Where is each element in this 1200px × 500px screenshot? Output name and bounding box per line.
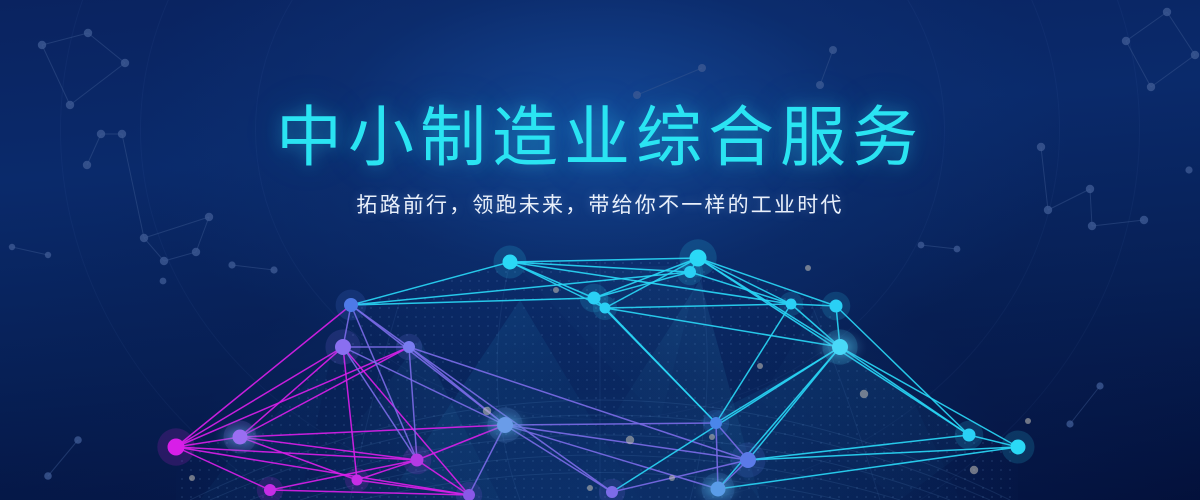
dome-node bbox=[740, 452, 756, 468]
dome-edge bbox=[716, 304, 791, 423]
dome-edge bbox=[240, 347, 409, 437]
dome-edge bbox=[748, 447, 1018, 460]
dome-node bbox=[344, 298, 358, 312]
dome-edge bbox=[836, 306, 969, 435]
dome-edge bbox=[343, 347, 417, 460]
dome-node bbox=[264, 484, 276, 496]
dome-edge bbox=[176, 305, 351, 447]
dome-speck bbox=[189, 475, 195, 481]
dome-edges-cyan bbox=[351, 258, 1018, 492]
dome-node bbox=[1011, 440, 1026, 455]
dome-edge bbox=[505, 423, 716, 425]
dome-speck bbox=[970, 466, 978, 474]
dome-edges-purple bbox=[343, 305, 748, 495]
dome-edge bbox=[594, 272, 690, 298]
dome-edge bbox=[240, 425, 505, 437]
dome-speck bbox=[669, 475, 675, 481]
dome-node bbox=[711, 482, 726, 497]
dome-edge bbox=[510, 258, 698, 262]
dome-node bbox=[352, 475, 363, 486]
dome-node bbox=[403, 341, 415, 353]
dome-node bbox=[786, 299, 797, 310]
dome-node bbox=[233, 430, 248, 445]
page-subtitle: 拓路前行，领跑未来，带给你不一样的工业时代 bbox=[0, 189, 1200, 219]
dome-node bbox=[710, 417, 722, 429]
dome-edge bbox=[698, 258, 836, 306]
dome-speck bbox=[805, 265, 811, 271]
dome-node bbox=[497, 417, 513, 433]
page-title: 中小制造业综合服务 bbox=[0, 102, 1200, 173]
dome-node bbox=[832, 339, 848, 355]
dome-nodes bbox=[157, 239, 1034, 500]
banner-text-block: 中小制造业综合服务 拓路前行，领跑未来，带给你不一样的工业时代 bbox=[0, 0, 1200, 219]
dome-node bbox=[684, 266, 696, 278]
dome-edge bbox=[748, 435, 969, 460]
dome-edge bbox=[343, 347, 357, 480]
dome-node bbox=[503, 255, 518, 270]
dome-speck bbox=[860, 390, 868, 398]
dome-node bbox=[411, 454, 424, 467]
dome-speck bbox=[757, 363, 763, 369]
dome-edge bbox=[240, 437, 417, 460]
dome-node bbox=[830, 300, 843, 313]
dome-node bbox=[168, 439, 185, 456]
dome-edge bbox=[690, 272, 791, 304]
dome-speck bbox=[709, 434, 715, 440]
dome-node bbox=[963, 429, 976, 442]
dome-edge bbox=[510, 262, 690, 272]
dome-node bbox=[335, 339, 351, 355]
dome-speck bbox=[483, 407, 491, 415]
dome-speck bbox=[587, 485, 593, 491]
dome-node bbox=[606, 486, 618, 498]
dome-edge bbox=[351, 262, 510, 305]
dome-speck bbox=[1025, 418, 1031, 424]
hero-banner: 中小制造业综合服务 拓路前行，领跑未来，带给你不一样的工业时代 bbox=[0, 0, 1200, 500]
dome-node bbox=[600, 303, 611, 314]
dome-speck bbox=[553, 287, 559, 293]
dome-edge bbox=[605, 304, 791, 308]
dome-speck bbox=[626, 436, 634, 444]
